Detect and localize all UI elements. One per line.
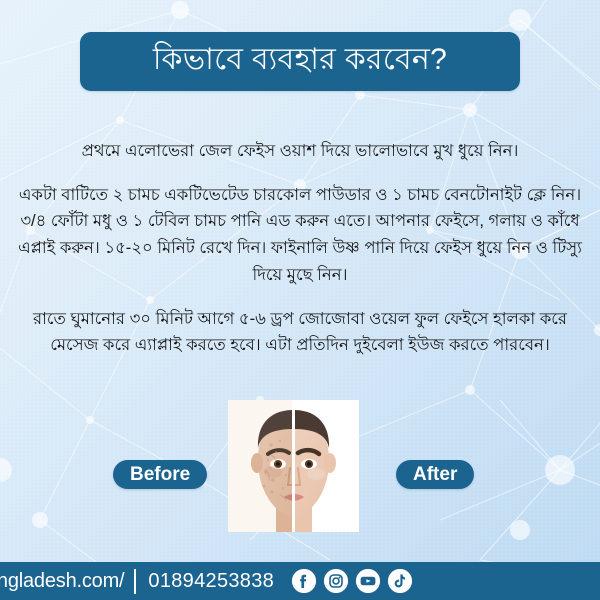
website-url[interactable]: angladesh.com/ (0, 570, 124, 593)
instruction-paragraph-3: রাতে ঘুমানোর ৩০ মিনিট আগে ৫-৬ ড্রপ জোজোব… (18, 306, 582, 359)
page-title: কিভাবে ব্যবহার করবেন? (153, 45, 447, 79)
instructions-body: প্রথমে এলোভেরা জেল ফেইস ওয়াশ দিয়ে ভালো… (18, 138, 582, 359)
before-after-photo (228, 400, 359, 532)
footer-divider (134, 569, 136, 594)
instruction-paragraph-1: প্রথমে এলোভেরা জেল ফেইস ওয়াশ দিয়ে ভালো… (18, 138, 582, 165)
before-badge-label: Before (130, 464, 190, 486)
after-badge: After (396, 460, 474, 489)
contact-footer-bar: angladesh.com/ 01894253838 (0, 562, 600, 600)
tiktok-icon[interactable] (388, 569, 412, 593)
page-title-banner: কিভাবে ব্যবহার করবেন? (80, 32, 520, 91)
poster-canvas: কিভাবে ব্যবহার করবেন? প্রথমে এলোভেরা জেল… (0, 0, 600, 600)
phone-number[interactable]: 01894253838 (148, 570, 274, 593)
facebook-icon[interactable] (292, 569, 316, 593)
before-badge: Before (113, 460, 207, 489)
youtube-icon[interactable] (356, 569, 380, 593)
social-links (292, 569, 412, 593)
instruction-paragraph-2: একটা বাটিতে ২ চামচ একটিভেটেড চারকোল পাউড… (18, 182, 582, 289)
instagram-icon[interactable] (324, 569, 348, 593)
after-badge-label: After (413, 464, 457, 486)
